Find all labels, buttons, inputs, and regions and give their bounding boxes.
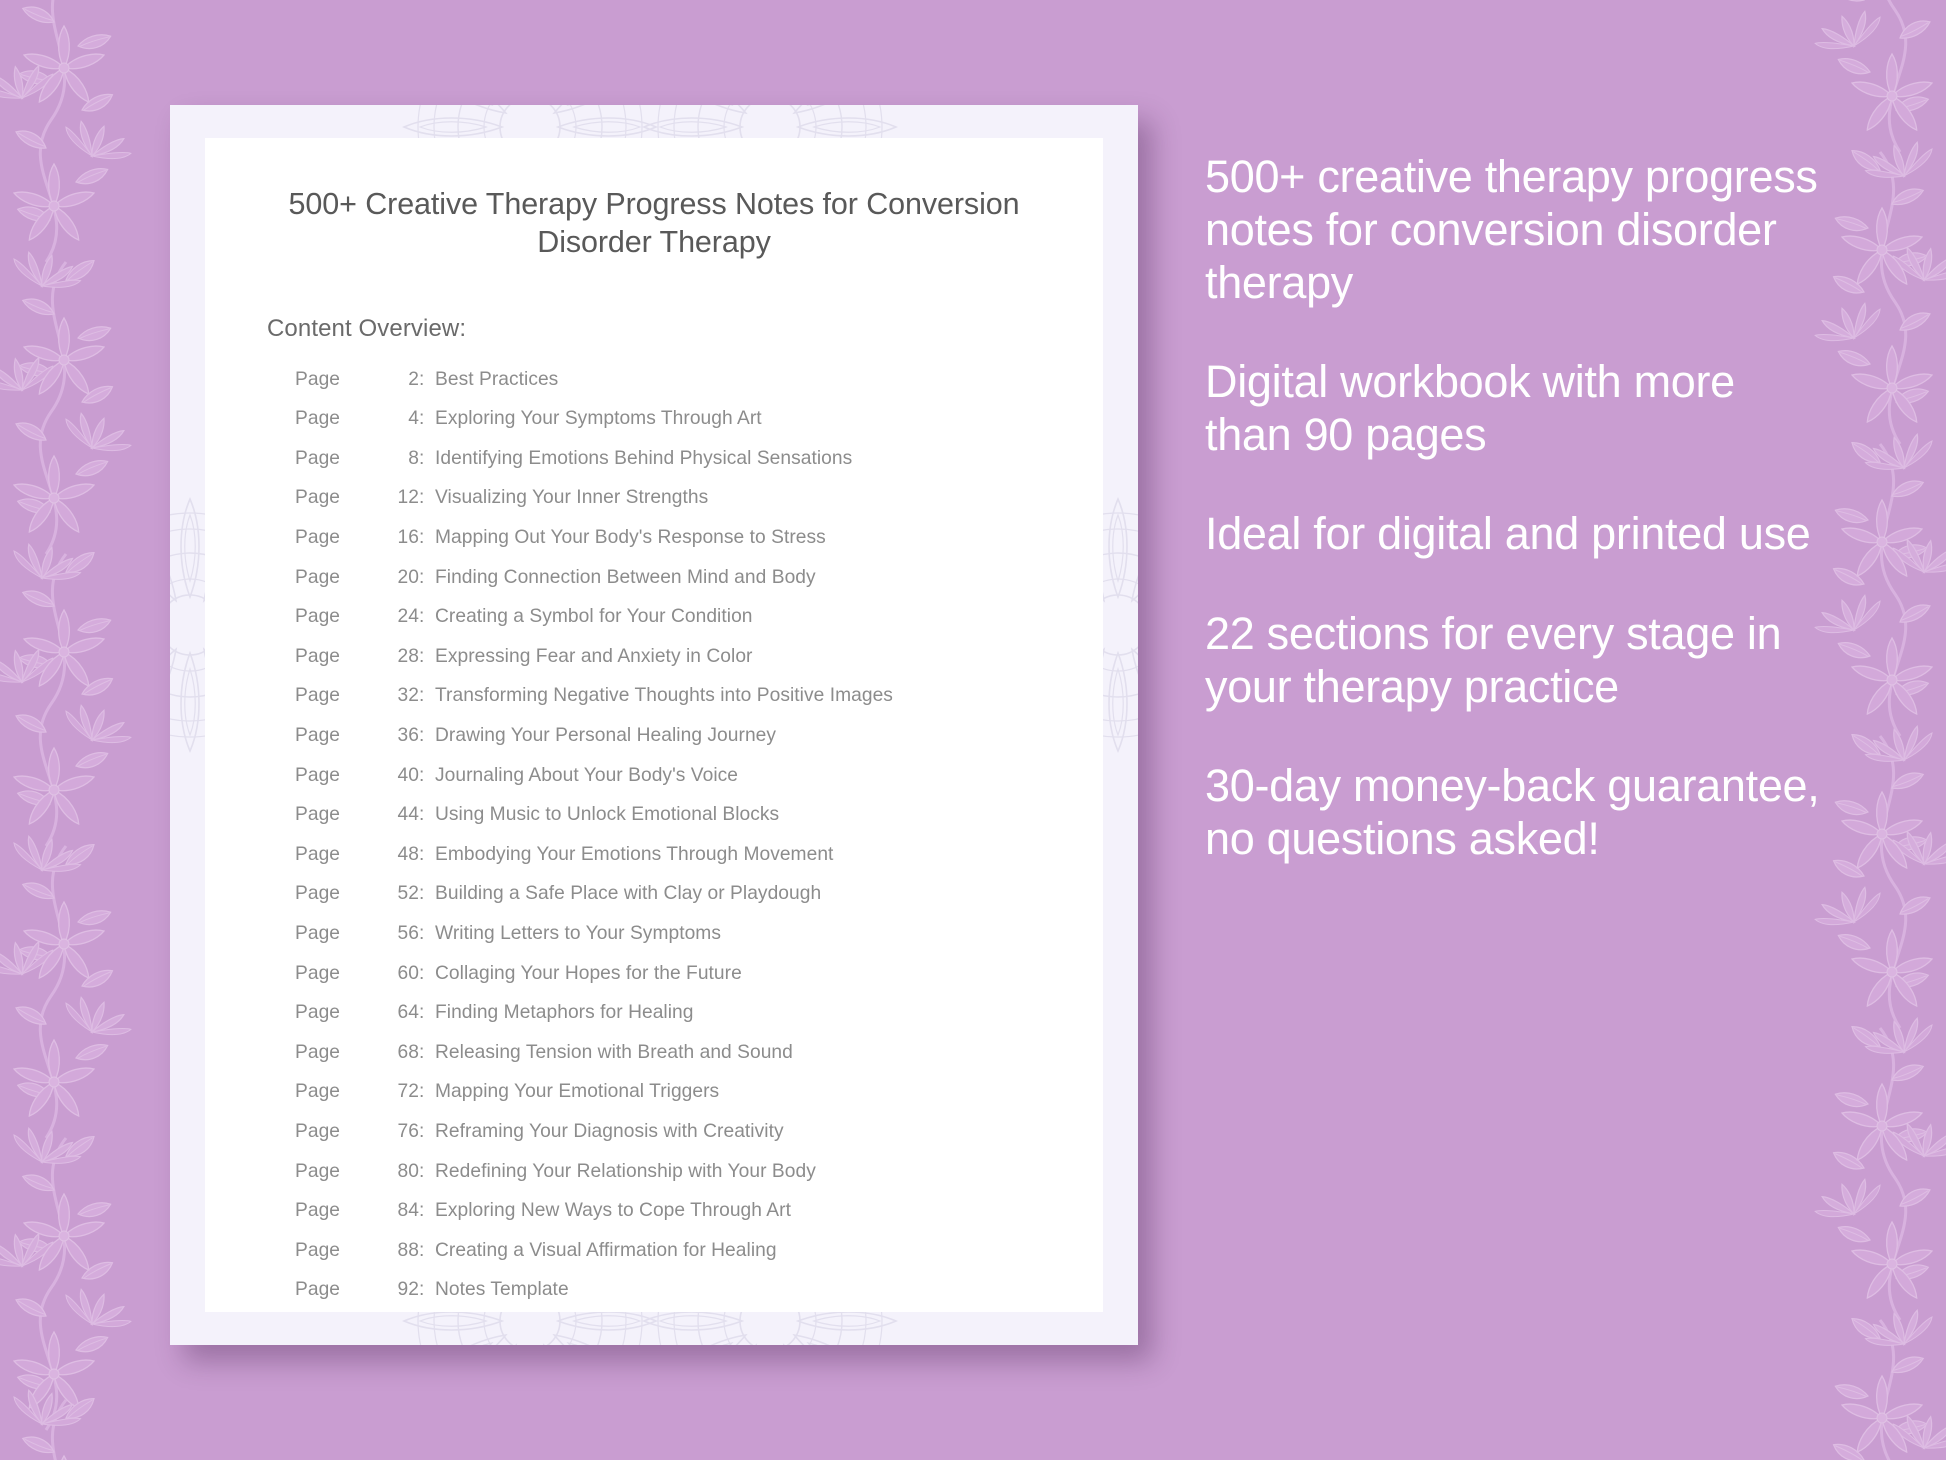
marketing-block: Ideal for digital and printed use	[1205, 507, 1825, 560]
toc-page-label: Page	[295, 1201, 385, 1220]
toc-page-number: 12	[385, 488, 419, 507]
toc-row: Page20:Finding Connection Between Mind a…	[295, 568, 1103, 608]
toc-colon: :	[419, 884, 435, 903]
toc-colon: :	[419, 409, 435, 428]
toc-page-number: 84	[385, 1201, 419, 1220]
toc-row: Page48:Embodying Your Emotions Through M…	[295, 845, 1103, 885]
toc-row: Page12:Visualizing Your Inner Strengths	[295, 488, 1103, 528]
toc-page-label: Page	[295, 528, 385, 547]
toc-colon: :	[419, 1280, 435, 1299]
toc-row: Page8:Identifying Emotions Behind Physic…	[295, 449, 1103, 489]
toc-entry-title: Drawing Your Personal Healing Journey	[435, 726, 776, 745]
toc-colon: :	[419, 607, 435, 626]
toc-entry-title: Reframing Your Diagnosis with Creativity	[435, 1122, 784, 1141]
toc-page-number: 36	[385, 726, 419, 745]
toc-page-number: 72	[385, 1082, 419, 1101]
toc-row: Page72:Mapping Your Emotional Triggers	[295, 1082, 1103, 1122]
toc-colon: :	[419, 1201, 435, 1220]
toc-colon: :	[419, 1241, 435, 1260]
toc-colon: :	[419, 488, 435, 507]
toc-page-label: Page	[295, 686, 385, 705]
marketing-copy-column: 500+ creative therapy progress notes for…	[1205, 150, 1825, 865]
table-of-contents: Page2:Best PracticesPage4:Exploring Your…	[295, 370, 1103, 1320]
toc-page-label: Page	[295, 1241, 385, 1260]
toc-entry-title: Exploring Your Symptoms Through Art	[435, 409, 762, 428]
toc-colon: :	[419, 805, 435, 824]
toc-page-label: Page	[295, 449, 385, 468]
toc-page-label: Page	[295, 370, 385, 389]
toc-page-number: 76	[385, 1122, 419, 1141]
toc-page-label: Page	[295, 1082, 385, 1101]
toc-colon: :	[419, 528, 435, 547]
toc-colon: :	[419, 1043, 435, 1062]
toc-entry-title: Finding Metaphors for Healing	[435, 1003, 694, 1022]
toc-entry-title: Visualizing Your Inner Strengths	[435, 488, 708, 507]
toc-page-number: 2	[385, 370, 419, 389]
toc-entry-title: Best Practices	[435, 370, 558, 389]
toc-page-number: 16	[385, 528, 419, 547]
toc-entry-title: Finding Connection Between Mind and Body	[435, 568, 816, 587]
toc-row: Page60:Collaging Your Hopes for the Futu…	[295, 964, 1103, 1004]
toc-entry-title: Creating a Visual Affirmation for Healin…	[435, 1241, 777, 1260]
toc-row: Page16:Mapping Out Your Body's Response …	[295, 528, 1103, 568]
toc-colon: :	[419, 964, 435, 983]
toc-entry-title: Collaging Your Hopes for the Future	[435, 964, 742, 983]
toc-page-number: 56	[385, 924, 419, 943]
toc-row: Page76:Reframing Your Diagnosis with Cre…	[295, 1122, 1103, 1162]
document-title: 500+ Creative Therapy Progress Notes for…	[275, 186, 1033, 262]
toc-page-number: 8	[385, 449, 419, 468]
toc-entry-title: Mapping Your Emotional Triggers	[435, 1082, 719, 1101]
toc-colon: :	[419, 766, 435, 785]
toc-page-label: Page	[295, 1003, 385, 1022]
toc-page-number: 60	[385, 964, 419, 983]
toc-page-number: 80	[385, 1162, 419, 1181]
toc-page-label: Page	[295, 409, 385, 428]
toc-row: Page4:Exploring Your Symptoms Through Ar…	[295, 409, 1103, 449]
toc-entry-title: Identifying Emotions Behind Physical Sen…	[435, 449, 852, 468]
toc-page-number: 52	[385, 884, 419, 903]
toc-row: Page28:Expressing Fear and Anxiety in Co…	[295, 647, 1103, 687]
toc-page-number: 92	[385, 1280, 419, 1299]
toc-row: Page2:Best Practices	[295, 370, 1103, 410]
toc-page-number: 64	[385, 1003, 419, 1022]
toc-page-label: Page	[295, 1122, 385, 1141]
toc-entry-title: Releasing Tension with Breath and Sound	[435, 1043, 793, 1062]
toc-row: Page44:Using Music to Unlock Emotional B…	[295, 805, 1103, 845]
toc-row: Page80:Redefining Your Relationship with…	[295, 1162, 1103, 1202]
toc-colon: :	[419, 726, 435, 745]
toc-row: Page64:Finding Metaphors for Healing	[295, 1003, 1103, 1043]
toc-page-label: Page	[295, 488, 385, 507]
toc-colon: :	[419, 845, 435, 864]
toc-entry-title: Notes Template	[435, 1280, 569, 1299]
toc-page-number: 4	[385, 409, 419, 428]
toc-entry-title: Transforming Negative Thoughts into Posi…	[435, 686, 893, 705]
toc-page-number: 32	[385, 686, 419, 705]
toc-colon: :	[419, 647, 435, 666]
toc-page-label: Page	[295, 924, 385, 943]
toc-page-label: Page	[295, 1280, 385, 1299]
toc-colon: :	[419, 1122, 435, 1141]
toc-entry-title: Embodying Your Emotions Through Movement	[435, 845, 833, 864]
toc-row: Page84:Exploring New Ways to Cope Throug…	[295, 1201, 1103, 1241]
toc-entry-title: Expressing Fear and Anxiety in Color	[435, 647, 752, 666]
toc-page-label: Page	[295, 607, 385, 626]
toc-colon: :	[419, 1082, 435, 1101]
toc-row: Page32:Transforming Negative Thoughts in…	[295, 686, 1103, 726]
toc-page-number: 40	[385, 766, 419, 785]
toc-page-number: 44	[385, 805, 419, 824]
toc-page-number: 24	[385, 607, 419, 626]
toc-page-label: Page	[295, 845, 385, 864]
toc-row: Page88:Creating a Visual Affirmation for…	[295, 1241, 1103, 1281]
toc-entry-title: Writing Letters to Your Symptoms	[435, 924, 721, 943]
toc-page-number: 48	[385, 845, 419, 864]
toc-page-label: Page	[295, 1162, 385, 1181]
marketing-block: 500+ creative therapy progress notes for…	[1205, 150, 1825, 309]
document-preview-card: 500+ Creative Therapy Progress Notes for…	[170, 105, 1138, 1345]
marketing-block: Digital workbook with more than 90 pages	[1205, 355, 1825, 461]
toc-page-label: Page	[295, 964, 385, 983]
toc-entry-title: Building a Safe Place with Clay or Playd…	[435, 884, 821, 903]
toc-page-number: 20	[385, 568, 419, 587]
toc-page-number: 88	[385, 1241, 419, 1260]
toc-entry-title: Creating a Symbol for Your Condition	[435, 607, 753, 626]
document-page: 500+ Creative Therapy Progress Notes for…	[205, 138, 1103, 1312]
toc-page-label: Page	[295, 568, 385, 587]
toc-row: Page68:Releasing Tension with Breath and…	[295, 1043, 1103, 1083]
toc-colon: :	[419, 568, 435, 587]
toc-entry-title: Redefining Your Relationship with Your B…	[435, 1162, 816, 1181]
toc-row: Page56:Writing Letters to Your Symptoms	[295, 924, 1103, 964]
toc-page-label: Page	[295, 805, 385, 824]
toc-row: Page36:Drawing Your Personal Healing Jou…	[295, 726, 1103, 766]
toc-page-number: 28	[385, 647, 419, 666]
content-overview-heading: Content Overview:	[267, 315, 1103, 343]
toc-page-label: Page	[295, 726, 385, 745]
marketing-block: 30-day money-back guarantee, no question…	[1205, 759, 1825, 865]
toc-entry-title: Mapping Out Your Body's Response to Stre…	[435, 528, 826, 547]
toc-entry-title: Journaling About Your Body's Voice	[435, 766, 738, 785]
toc-colon: :	[419, 686, 435, 705]
toc-page-label: Page	[295, 766, 385, 785]
toc-page-label: Page	[295, 647, 385, 666]
toc-colon: :	[419, 449, 435, 468]
marketing-block: 22 sections for every stage in your ther…	[1205, 607, 1825, 713]
toc-row: Page92:Notes Template	[295, 1280, 1103, 1320]
toc-page-number: 68	[385, 1043, 419, 1062]
toc-row: Page24:Creating a Symbol for Your Condit…	[295, 607, 1103, 647]
toc-row: Page40:Journaling About Your Body's Voic…	[295, 766, 1103, 806]
toc-row: Page52:Building a Safe Place with Clay o…	[295, 884, 1103, 924]
toc-colon: :	[419, 924, 435, 943]
toc-entry-title: Using Music to Unlock Emotional Blocks	[435, 805, 779, 824]
toc-page-label: Page	[295, 1043, 385, 1062]
toc-page-label: Page	[295, 884, 385, 903]
toc-colon: :	[419, 370, 435, 389]
toc-entry-title: Exploring New Ways to Cope Through Art	[435, 1201, 791, 1220]
toc-colon: :	[419, 1003, 435, 1022]
toc-colon: :	[419, 1162, 435, 1181]
